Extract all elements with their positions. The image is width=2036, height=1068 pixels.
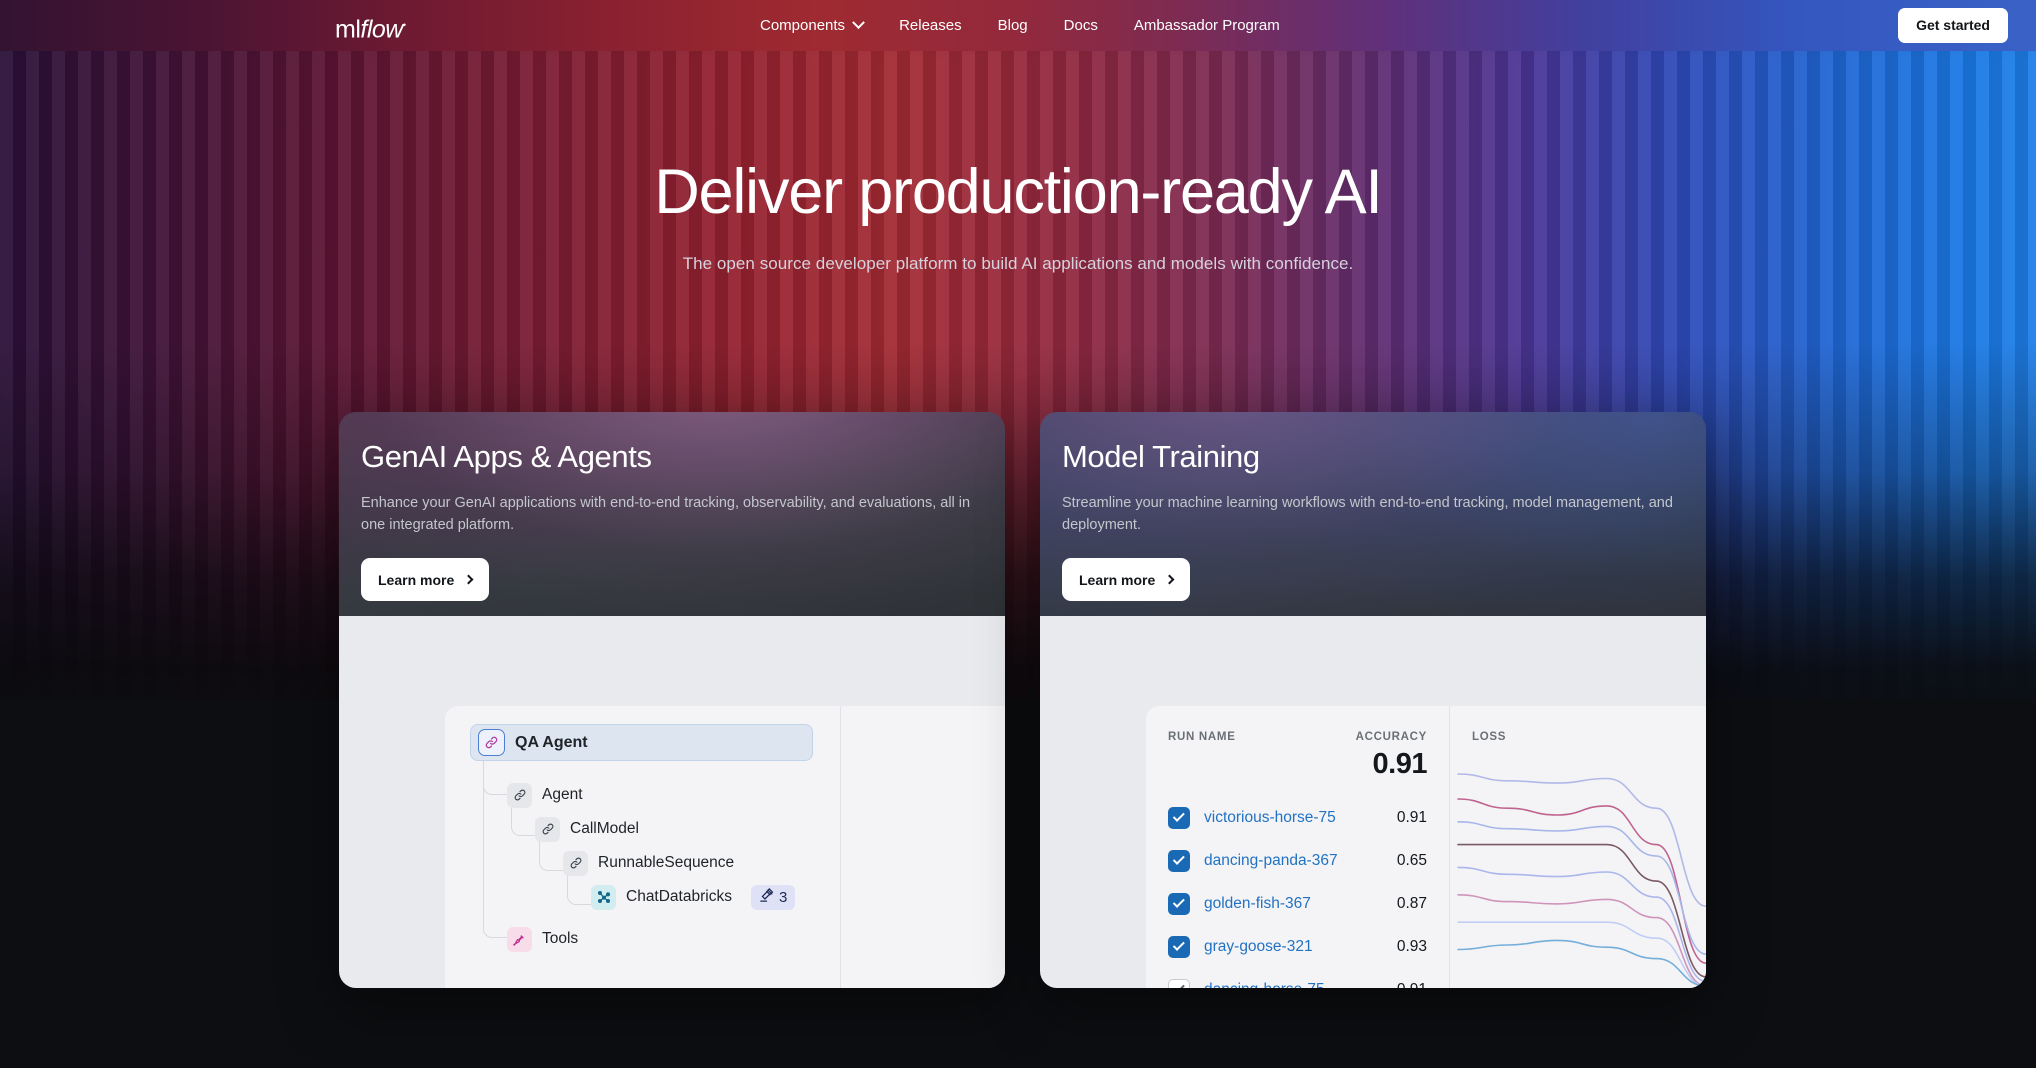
trace-node-tools[interactable]: Tools xyxy=(507,924,578,954)
loss-series-line xyxy=(1458,922,1706,986)
nav-item-docs-label: Docs xyxy=(1064,0,1098,51)
trace-tree-rows: QA Agent Agent xyxy=(445,706,840,988)
run-checkbox[interactable] xyxy=(1168,936,1190,958)
card-model-training-learn-more-button[interactable]: Learn more xyxy=(1062,558,1190,601)
trace-node-chatdatabricks[interactable]: ChatDatabricks 3 xyxy=(591,882,795,912)
nav-item-blog[interactable]: Blog xyxy=(980,0,1046,51)
tree-connector-trunk xyxy=(483,761,507,938)
run-name-link[interactable]: dancing-horse-75 xyxy=(1204,981,1325,988)
loss-series-line xyxy=(1458,774,1706,906)
run-checkbox[interactable] xyxy=(1168,807,1190,829)
run-name-link[interactable]: gray-goose-321 xyxy=(1204,938,1313,956)
table-row[interactable]: dancing-horse-75 0.91 xyxy=(1168,975,1427,988)
nav-item-docs[interactable]: Docs xyxy=(1046,0,1116,51)
runs-table: RUN NAME ACCURACY 0.91 victorious-horse-… xyxy=(1146,706,1449,988)
page-background-bottom xyxy=(0,700,2036,1068)
card-model-training-header: Model Training Streamline your machine l… xyxy=(1040,412,1706,616)
run-checkbox[interactable] xyxy=(1168,979,1190,988)
card-model-training-learn-more-label: Learn more xyxy=(1079,572,1155,588)
get-started-button[interactable]: Get started xyxy=(1898,8,2008,43)
top-navigation-bar: mlflow• Components Releases Blog Docs Am… xyxy=(0,0,2036,51)
trace-node-tools-label: Tools xyxy=(542,930,578,948)
card-genai-title: GenAI Apps & Agents xyxy=(361,440,983,474)
nav-links: Components Releases Blog Docs Ambassador… xyxy=(760,0,1298,51)
trace-node-qa-agent[interactable]: QA Agent xyxy=(470,724,813,761)
card-model-training-title: Model Training xyxy=(1062,440,1684,474)
card-genai-apps-agents[interactable]: GenAI Apps & Agents Enhance your GenAI a… xyxy=(339,412,1005,988)
nav-item-ambassador-program-label: Ambassador Program xyxy=(1134,0,1280,51)
card-genai-header: GenAI Apps & Agents Enhance your GenAI a… xyxy=(339,412,1005,616)
trace-node-runnablesequence-label: RunnableSequence xyxy=(598,854,734,872)
trace-node-agent[interactable]: Agent xyxy=(507,780,583,810)
table-row[interactable]: golden-fish-367 0.87 xyxy=(1168,889,1427,919)
table-row[interactable]: gray-goose-321 0.93 xyxy=(1168,932,1427,962)
chevron-right-icon xyxy=(1165,575,1175,585)
run-name-link[interactable]: golden-fish-367 xyxy=(1204,895,1311,913)
mlflow-landing-page: mlflow• Components Releases Blog Docs Am… xyxy=(0,0,2036,1068)
trace-node-callmodel-label: CallModel xyxy=(570,820,639,838)
tool-calls-badge[interactable]: 3 xyxy=(751,885,795,910)
run-checkbox[interactable] xyxy=(1168,850,1190,872)
card-model-training-description: Streamline your machine learning workflo… xyxy=(1062,492,1680,536)
card-genai-body: QA Agent Agent xyxy=(339,616,1005,988)
loss-series-line xyxy=(1458,895,1706,986)
wrench-icon xyxy=(507,927,532,952)
card-genai-learn-more-label: Learn more xyxy=(378,572,454,588)
network-graph-icon xyxy=(591,885,616,910)
hero-subtitle: The open source developer platform to bu… xyxy=(0,254,2036,274)
trace-node-callmodel[interactable]: CallModel xyxy=(535,814,639,844)
nav-item-components-label: Components xyxy=(760,0,845,51)
nav-item-ambassador-program[interactable]: Ambassador Program xyxy=(1116,0,1298,51)
summary-accuracy-value: 0.91 xyxy=(1373,748,1427,781)
run-name-link[interactable]: dancing-panda-367 xyxy=(1204,852,1338,870)
mlflow-logo[interactable]: mlflow• xyxy=(335,10,435,40)
runs-table-panel: RUN NAME ACCURACY 0.91 victorious-horse-… xyxy=(1146,706,1706,988)
chain-link-icon xyxy=(478,729,505,756)
loss-chart-svg xyxy=(1450,754,1706,988)
run-checkbox[interactable] xyxy=(1168,893,1190,915)
nav-item-releases[interactable]: Releases xyxy=(881,0,980,51)
gavel-icon xyxy=(759,888,774,907)
card-genai-learn-more-button[interactable]: Learn more xyxy=(361,558,489,601)
chain-link-icon xyxy=(535,817,560,842)
run-accuracy-value: 0.91 xyxy=(1397,809,1427,827)
card-model-training[interactable]: Model Training Streamline your machine l… xyxy=(1040,412,1706,988)
loss-chart: LOSS xyxy=(1450,706,1706,988)
card-genai-description: Enhance your GenAI applications with end… xyxy=(361,492,979,536)
run-accuracy-value: 0.93 xyxy=(1397,938,1427,956)
run-name-link[interactable]: victorious-horse-75 xyxy=(1204,809,1336,827)
trace-tree-panel: QA Agent Agent xyxy=(445,706,1005,988)
loss-series-line xyxy=(1458,799,1706,963)
hero-title: Deliver production-ready AI xyxy=(0,158,2036,227)
loss-series-line xyxy=(1458,845,1706,977)
nav-item-releases-label: Releases xyxy=(899,0,962,51)
loss-series-line xyxy=(1458,940,1706,986)
run-accuracy-value: 0.91 xyxy=(1397,981,1427,988)
loss-chart-title: LOSS xyxy=(1472,731,1706,743)
run-accuracy-value: 0.65 xyxy=(1397,852,1427,870)
chevron-right-icon xyxy=(464,575,474,585)
table-row[interactable]: victorious-horse-75 0.91 xyxy=(1168,803,1427,833)
hero-background-fade xyxy=(0,0,2036,760)
tool-calls-badge-count: 3 xyxy=(779,889,787,906)
trace-node-chatdatabricks-label: ChatDatabricks xyxy=(626,888,732,906)
runs-table-header: RUN NAME ACCURACY xyxy=(1168,731,1427,743)
nav-item-components[interactable]: Components xyxy=(760,0,881,51)
card-model-training-body: RUN NAME ACCURACY 0.91 victorious-horse-… xyxy=(1040,616,1706,988)
trace-panel-divider xyxy=(840,706,841,988)
nav-item-blog-label: Blog xyxy=(998,0,1028,51)
loss-series-line xyxy=(1458,822,1706,954)
table-row[interactable]: dancing-panda-367 0.65 xyxy=(1168,846,1427,876)
column-header-accuracy: ACCURACY xyxy=(1356,731,1427,743)
trace-node-agent-label: Agent xyxy=(542,786,583,804)
chevron-down-icon xyxy=(852,16,865,29)
trace-node-qa-agent-label: QA Agent xyxy=(515,734,588,752)
run-accuracy-value: 0.87 xyxy=(1397,895,1427,913)
chain-link-icon xyxy=(507,783,532,808)
chain-link-icon xyxy=(563,851,588,876)
trace-node-runnablesequence[interactable]: RunnableSequence xyxy=(563,848,734,878)
column-header-run-name: RUN NAME xyxy=(1168,731,1236,743)
